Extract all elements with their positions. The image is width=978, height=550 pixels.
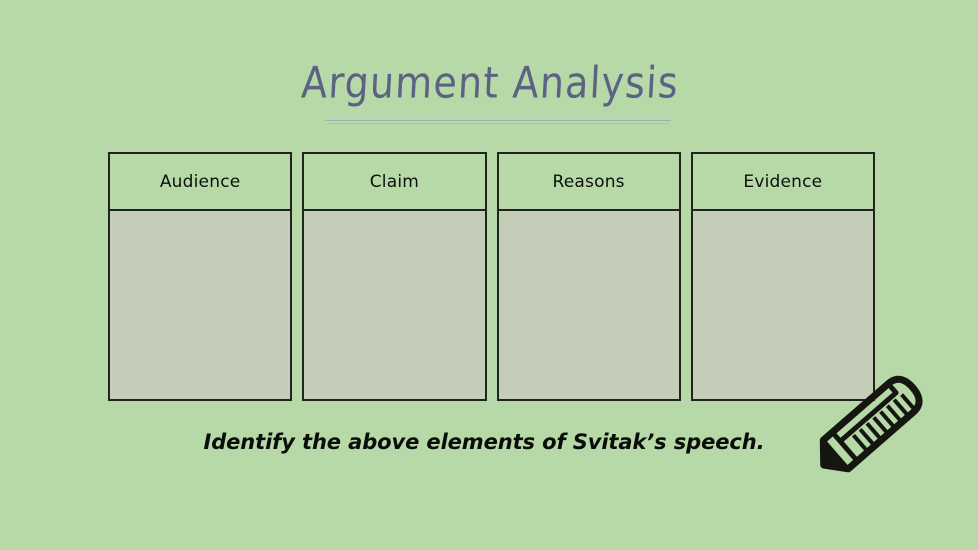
column-header-label: Audience <box>160 172 241 192</box>
table-column-evidence: Evidence <box>691 152 875 401</box>
column-header-label: Evidence <box>743 172 822 192</box>
title-underline-line-1 <box>325 120 671 121</box>
slide-canvas: Argument Analysis Audience Claim Reasons <box>0 0 978 550</box>
column-header-reasons: Reasons <box>499 154 679 211</box>
pencil-icon <box>806 370 938 476</box>
table-column-reasons: Reasons <box>497 152 681 401</box>
instruction-caption-text: Identify the above elements of Svitak’s … <box>204 430 765 454</box>
page-title: Argument Analysis <box>300 57 680 109</box>
page-title-block: Argument Analysis <box>0 63 978 109</box>
title-underline <box>325 120 671 124</box>
column-body-audience[interactable] <box>110 211 290 399</box>
table-column-audience: Audience <box>108 152 292 401</box>
title-underline-line-2 <box>328 123 669 124</box>
table-column-claim: Claim <box>302 152 486 401</box>
column-body-reasons[interactable] <box>499 211 679 399</box>
column-header-evidence: Evidence <box>693 154 873 211</box>
column-header-label: Claim <box>370 172 419 192</box>
column-header-claim: Claim <box>304 154 484 211</box>
column-header-label: Reasons <box>553 172 625 192</box>
argument-analysis-table: Audience Claim Reasons Evidence <box>108 152 875 401</box>
column-body-claim[interactable] <box>304 211 484 399</box>
column-header-audience: Audience <box>110 154 290 211</box>
